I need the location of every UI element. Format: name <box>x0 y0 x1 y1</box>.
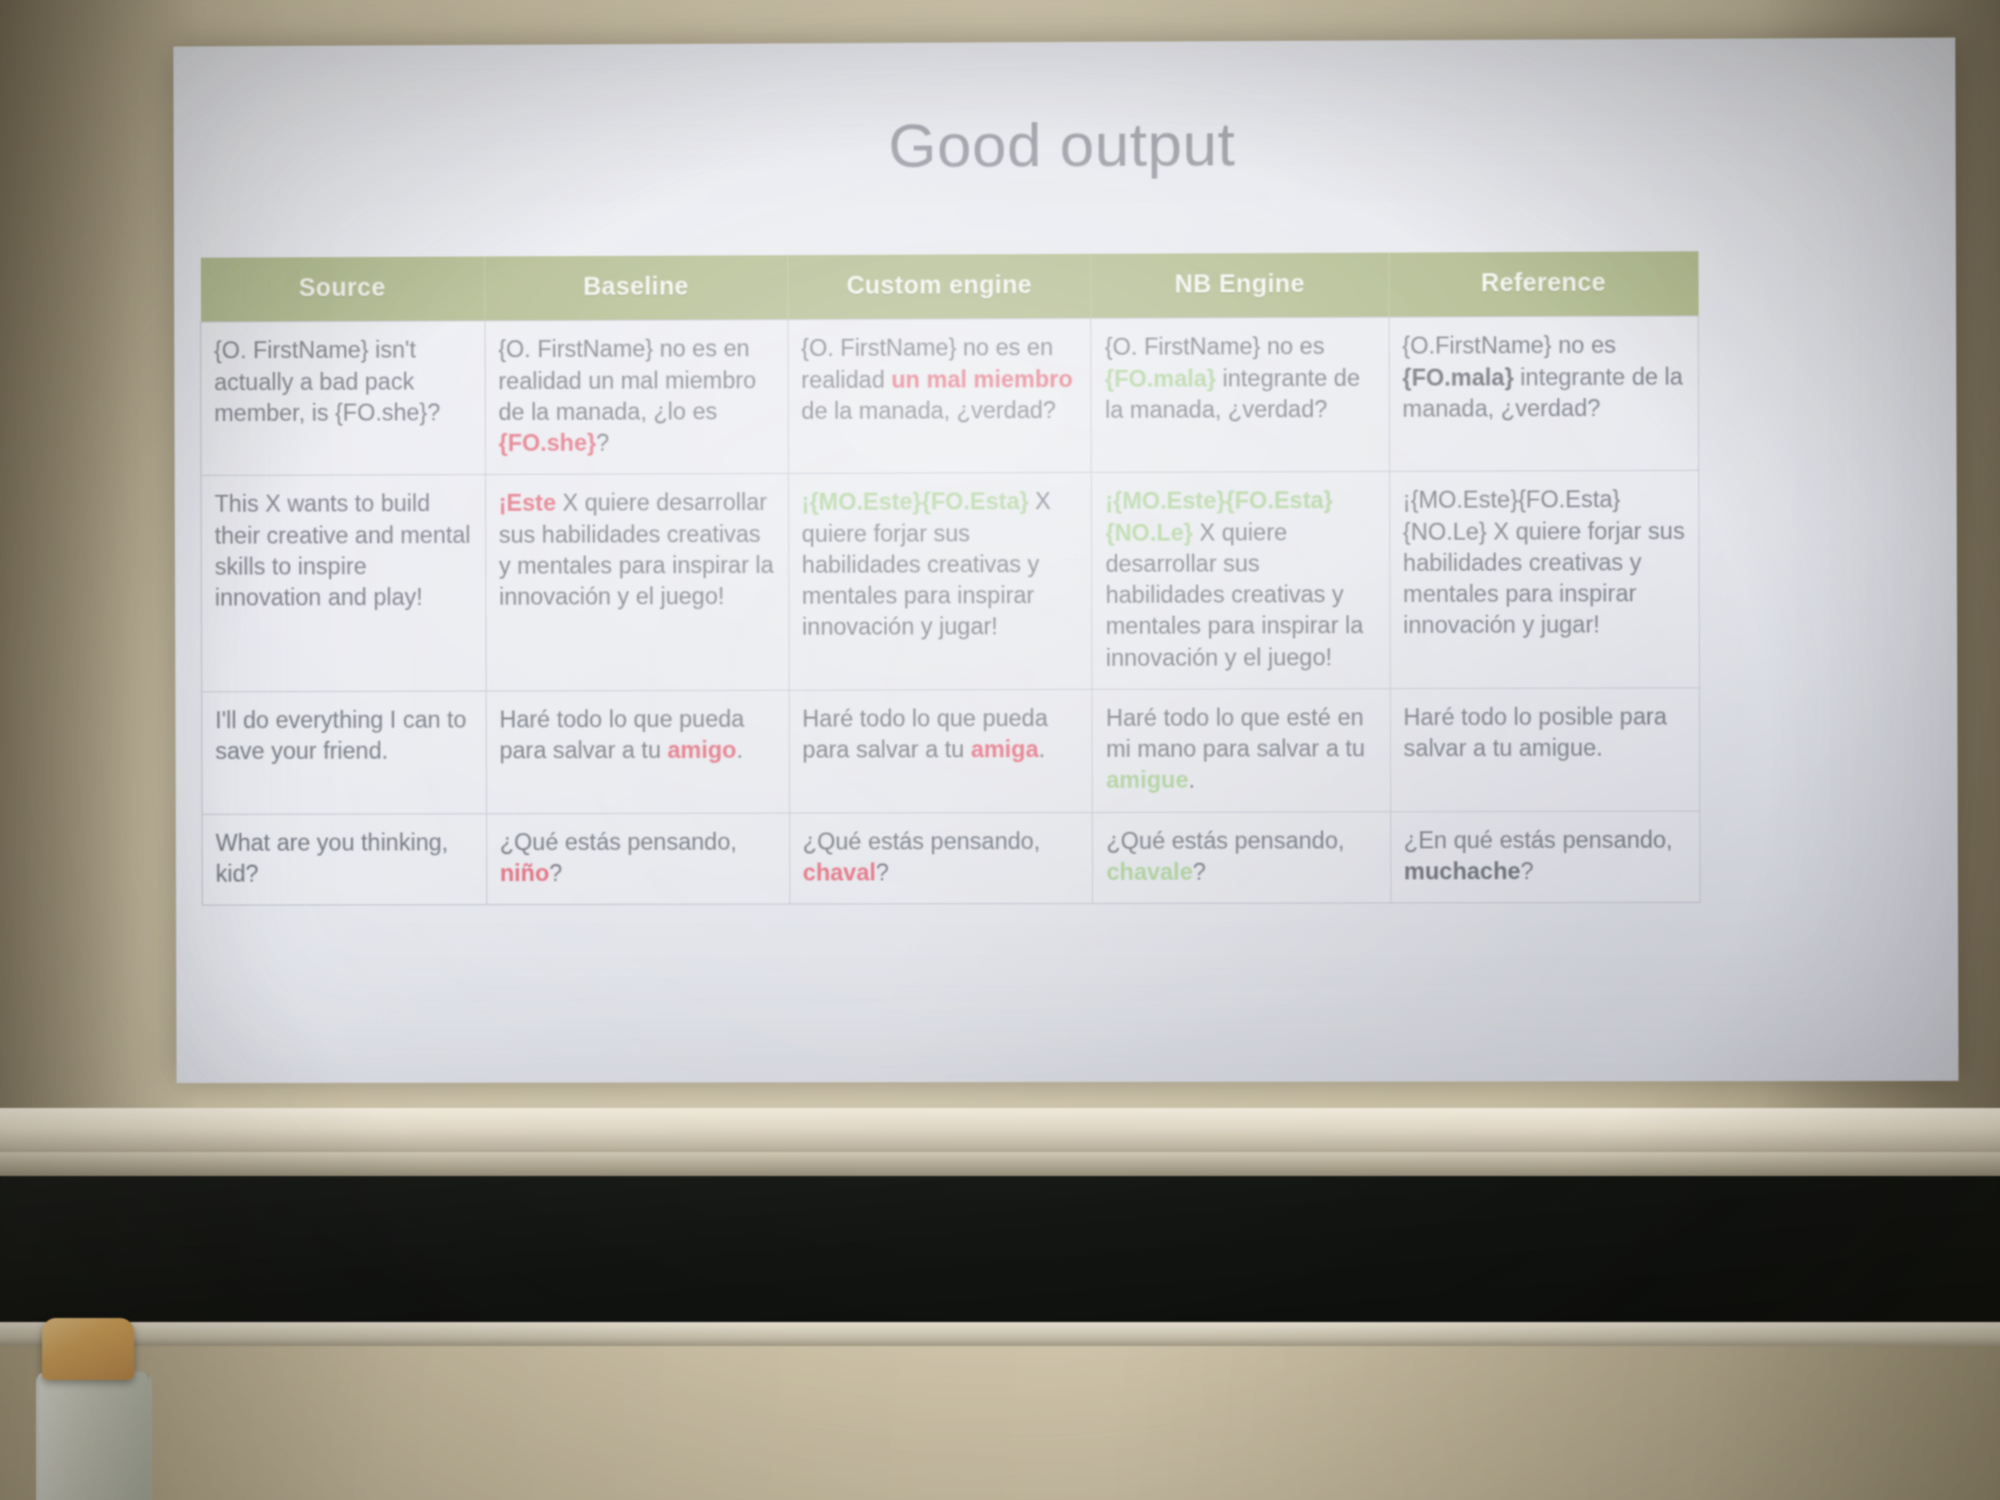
cell-reference: Haré todo lo posible para salvar a tu am… <box>1390 688 1700 812</box>
cell-reference: ¡{MO.Este}{FO.Esta}{NO.Le} X quiere forj… <box>1389 471 1699 689</box>
cell-baseline: {O. FirstName} no es en realidad un mal … <box>485 320 788 475</box>
cell-custom-engine: {O. FirstName} no es en realidad un mal … <box>788 319 1092 474</box>
cell-baseline: ¡Este X quiere desarrollar sus habilidad… <box>485 474 789 691</box>
text-run: ¿En qué estás pensando, <box>1404 826 1673 853</box>
chalkboard-sheen <box>0 1176 2000 1324</box>
text-run: I'll do everything I can to save your fr… <box>215 706 466 764</box>
table-body: {O. FirstName} isn't actually a bad pack… <box>201 316 1701 905</box>
highlight-red: niño <box>500 860 549 886</box>
highlight-dark: muchache <box>1404 858 1521 884</box>
table-header-row: Source Baseline Custom engine NB Engine … <box>200 251 1698 322</box>
cell-reference: {O.FirstName} no es {FO.mala} integrante… <box>1389 316 1699 471</box>
table-row: I'll do everything I can to save your fr… <box>202 688 1700 814</box>
translation-comparison-table: Source Baseline Custom engine NB Engine … <box>200 251 1701 905</box>
bottle-cork <box>42 1318 134 1380</box>
highlight-red: ¡Este <box>499 490 556 516</box>
text-run: {O. FirstName} isn't actually a bad pack… <box>214 337 440 426</box>
cell-nb-engine: {O. FirstName} no es {FO.mala} integrant… <box>1091 317 1389 472</box>
text-run: ? <box>1193 858 1206 884</box>
text-run: {O. FirstName} no es <box>1105 333 1325 360</box>
text-run: {O.FirstName} no es <box>1402 332 1616 359</box>
chalkboard-ledge <box>0 1322 2000 1348</box>
table-header: Source Baseline Custom engine NB Engine … <box>200 251 1698 322</box>
text-run: Haré todo lo que esté en mi mano para sa… <box>1106 704 1365 762</box>
cell-nb-engine: ¿Qué estás pensando, chavale? <box>1093 811 1391 903</box>
highlight-dark: {FO.mala} <box>1402 364 1513 390</box>
cell-nb-engine: ¡{MO.Este}{FO.Esta}{NO.Le} X quiere desa… <box>1092 472 1390 690</box>
cell-baseline: ¿Qué estás pensando, niño? <box>486 813 789 905</box>
text-run: ? <box>1520 858 1533 884</box>
column-header-baseline: Baseline <box>485 255 788 321</box>
text-run: . <box>1188 767 1195 793</box>
wall-shadow-left <box>0 0 200 1130</box>
highlight-green: amigue <box>1106 767 1188 793</box>
cell-source: What are you thinking, kid? <box>202 813 486 905</box>
column-header-source: Source <box>200 256 484 322</box>
text-run: ¿Qué estás pensando, <box>803 828 1041 854</box>
text-run: de la manada, ¿verdad? <box>801 397 1056 424</box>
table-row: {O. FirstName} isn't actually a bad pack… <box>201 316 1699 476</box>
table-row: What are you thinking, kid?¿Qué estás pe… <box>202 811 1700 906</box>
text-run: {O. FirstName} no es en realidad un mal … <box>498 335 756 424</box>
highlight-green: ¡{MO.Este}{FO.Esta} <box>802 488 1029 515</box>
text-run: What are you thinking, kid? <box>216 829 449 887</box>
cell-source: {O. FirstName} isn't actually a bad pack… <box>201 321 486 476</box>
highlight-green: chavale <box>1106 858 1192 884</box>
cell-baseline: Haré todo lo que pueda para salvar a tu … <box>486 690 789 813</box>
text-run: ? <box>596 430 609 456</box>
column-header-reference: Reference <box>1388 251 1698 317</box>
highlight-red: {FO.she} <box>499 430 597 456</box>
text-run: Haré todo lo posible para salvar a tu am… <box>1403 703 1667 761</box>
text-run: ? <box>549 860 562 886</box>
cell-custom-engine: ¡{MO.Este}{FO.Esta} X quiere forjar sus … <box>788 473 1092 690</box>
wall-trim-lower <box>0 1152 2000 1178</box>
text-run: ? <box>876 859 889 885</box>
text-run: ¿Qué estás pensando, <box>1106 827 1344 854</box>
highlight-red: chaval <box>803 859 876 885</box>
bottle-body <box>36 1372 152 1500</box>
cell-custom-engine: Haré todo lo que pueda para salvar a tu … <box>789 689 1093 812</box>
lecture-room-photo: Good output Source Baseline Custom engin… <box>0 0 2000 1500</box>
cell-reference: ¿En qué estás pensando, muchache? <box>1390 811 1700 903</box>
cell-source: I'll do everything I can to save your fr… <box>202 691 487 814</box>
highlight-red: un mal miembro <box>891 365 1072 392</box>
text-run: This X wants to build their creative and… <box>214 490 470 610</box>
text-run: . <box>736 737 743 763</box>
highlight-red: amigo <box>667 737 736 763</box>
highlight-green: {FO.mala} <box>1105 365 1216 391</box>
text-run: ¿Qué estás pensando, <box>500 828 737 854</box>
cell-nb-engine: Haré todo lo que esté en mi mano para sa… <box>1092 688 1390 812</box>
projected-slide: Good output Source Baseline Custom engin… <box>173 37 1958 1083</box>
column-header-nb-engine: NB Engine <box>1091 253 1389 319</box>
slide-content: Good output Source Baseline Custom engin… <box>173 37 1958 1083</box>
highlight-red: amiga <box>971 736 1039 762</box>
column-header-custom-engine: Custom engine <box>787 254 1091 320</box>
table-row: This X wants to build their creative and… <box>201 471 1699 692</box>
page-title: Good output <box>174 106 1956 185</box>
text-run: ¡{MO.Este}{FO.Esta}{NO.Le} X quiere forj… <box>1403 486 1685 638</box>
cell-source: This X wants to build their creative and… <box>201 475 486 692</box>
text-run: . <box>1039 736 1046 762</box>
wall-lower <box>0 1346 2000 1500</box>
cell-custom-engine: ¿Qué estás pensando, chaval? <box>789 812 1093 904</box>
